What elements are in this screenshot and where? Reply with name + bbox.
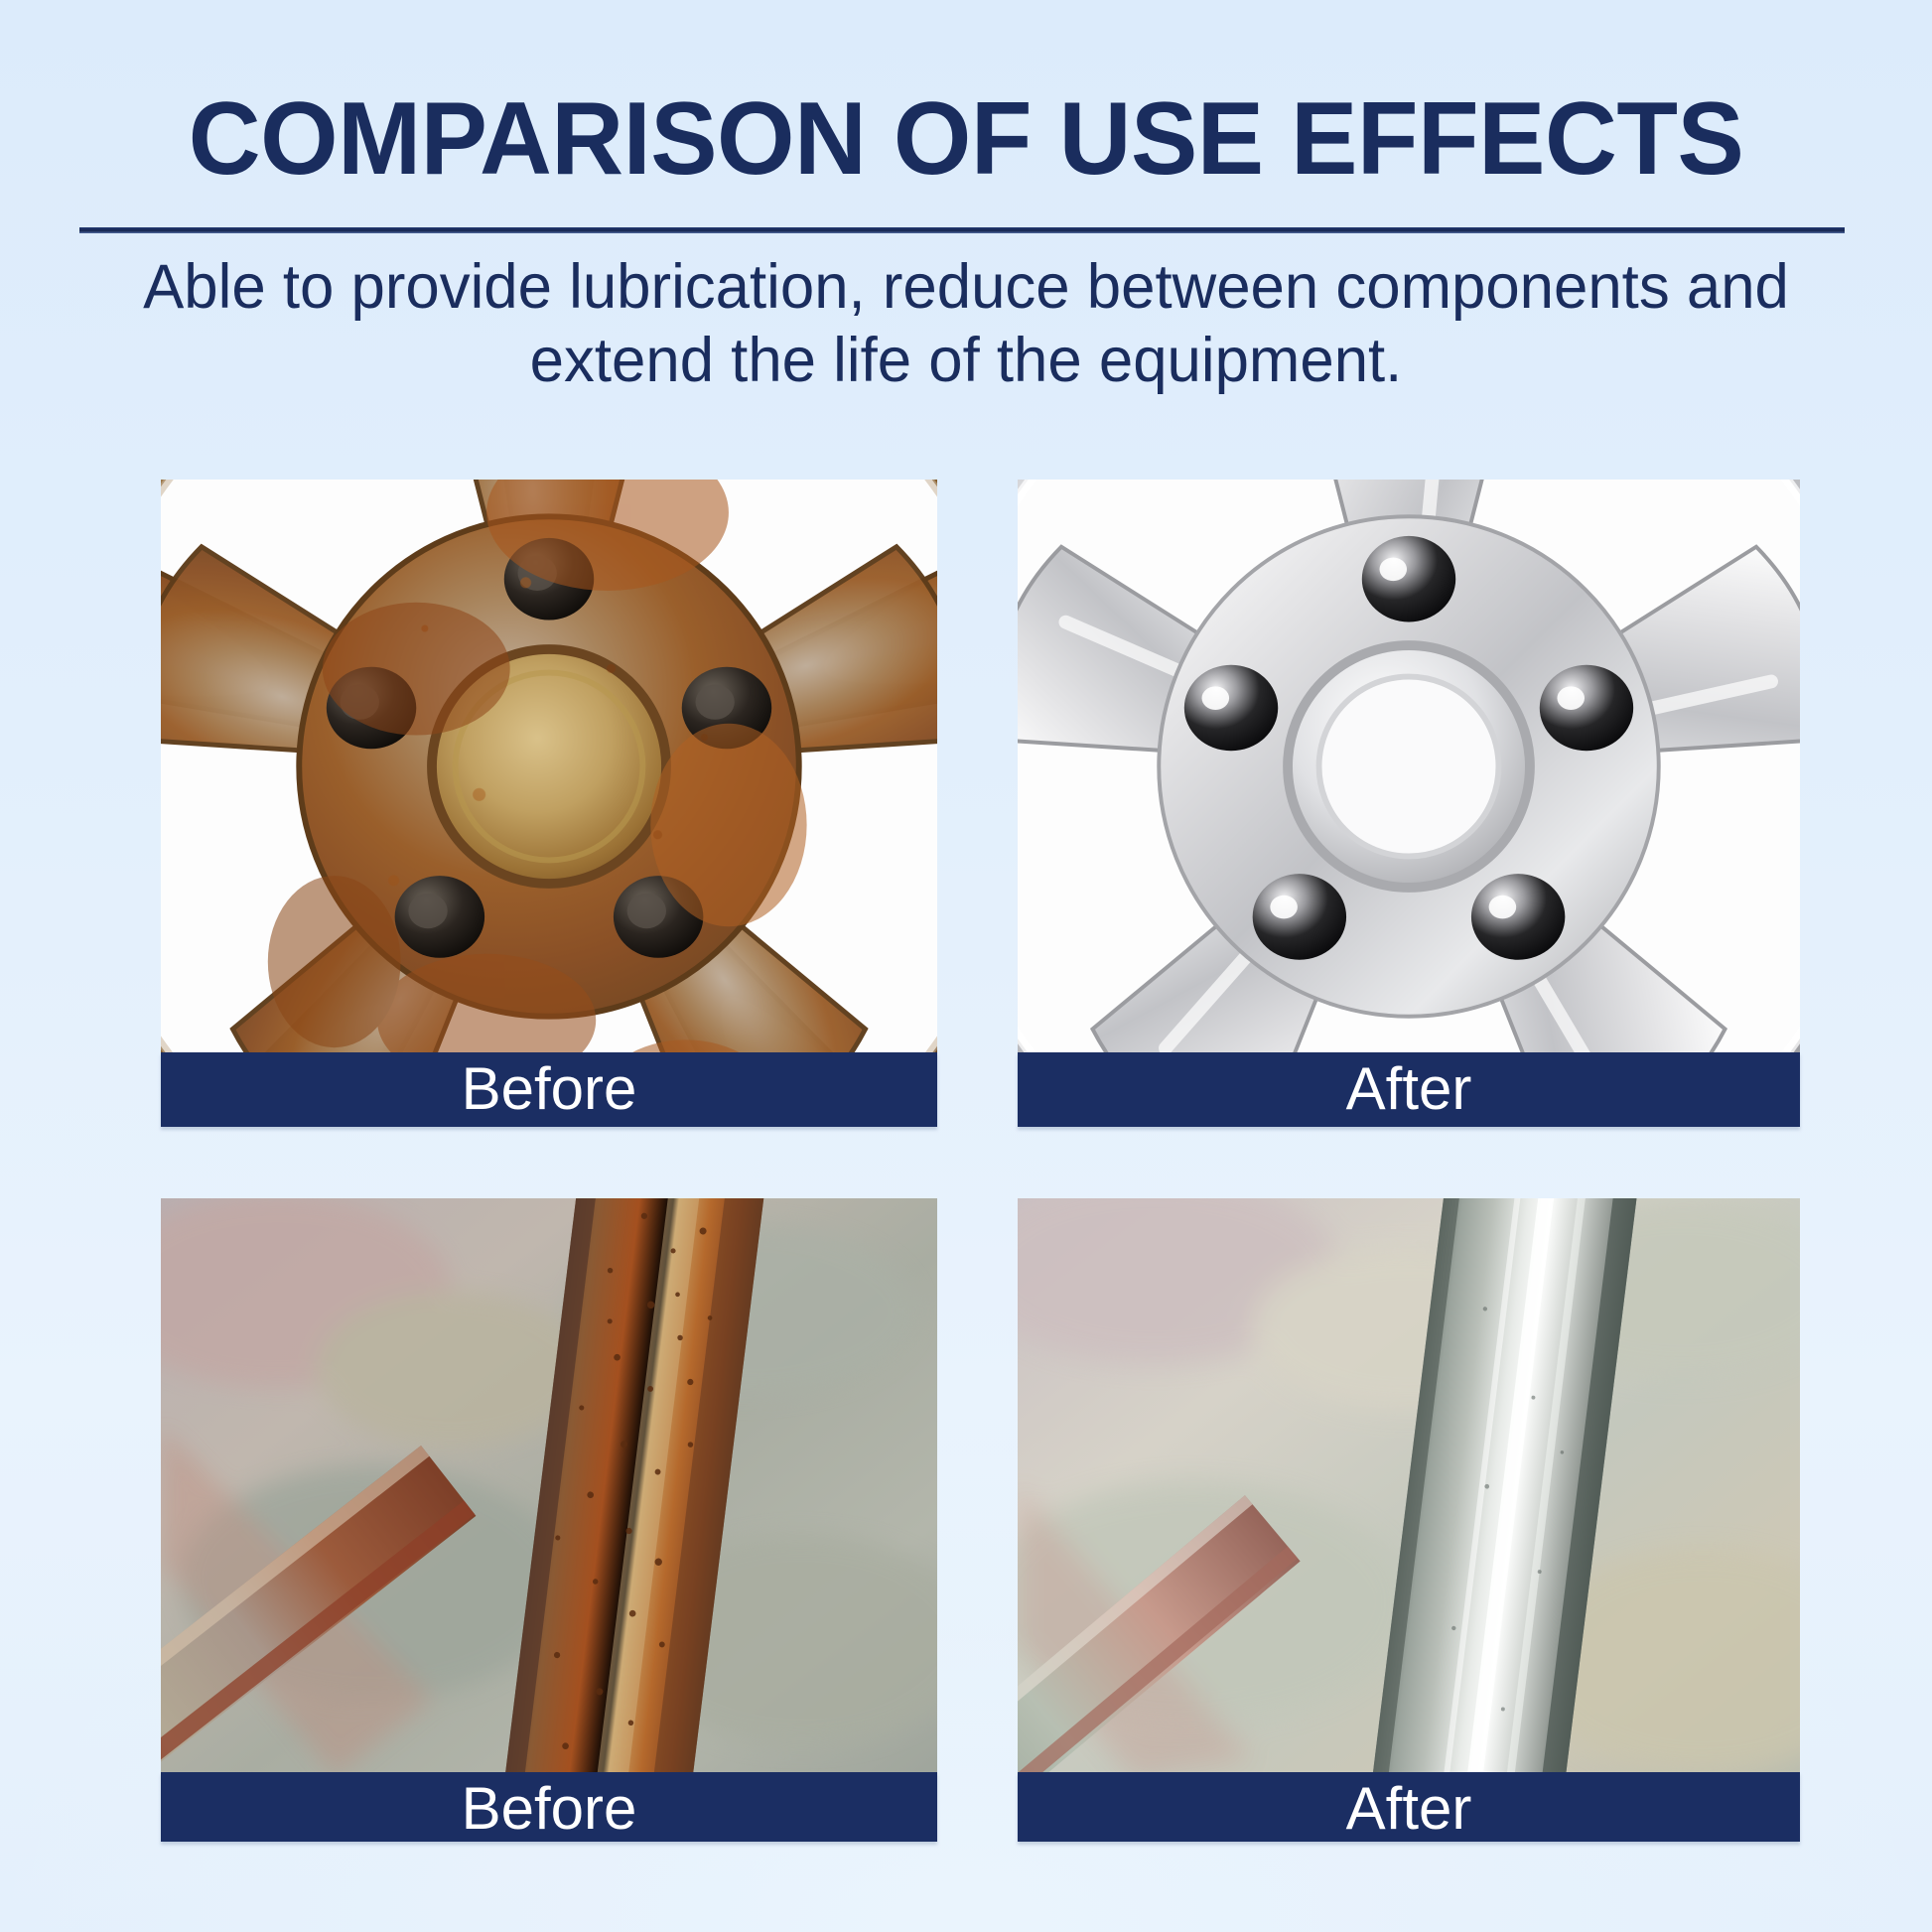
rusty-wheel-illustration (161, 480, 937, 1052)
rusty-pipe-illustration (161, 1198, 937, 1772)
caption-after: After (1018, 1772, 1800, 1842)
comparison-panel-pipe-after: After (1018, 1198, 1800, 1842)
photo-clean-pipe (1018, 1198, 1800, 1772)
caption-after: After (1018, 1052, 1800, 1127)
caption-before: Before (161, 1052, 937, 1127)
clean-pipe-illustration (1018, 1198, 1800, 1772)
comparison-panel-wheel-before: Before (161, 480, 937, 1127)
caption-before: Before (161, 1772, 937, 1842)
comparison-panel-pipe-before: Before (161, 1198, 937, 1842)
photo-rusty-wheel (161, 480, 937, 1052)
photo-rusty-pipe (161, 1198, 937, 1772)
clean-wheel-illustration (1018, 480, 1800, 1052)
comparison-grid: Before (0, 0, 1932, 1932)
photo-clean-wheel (1018, 480, 1800, 1052)
comparison-panel-wheel-after: After (1018, 480, 1800, 1127)
